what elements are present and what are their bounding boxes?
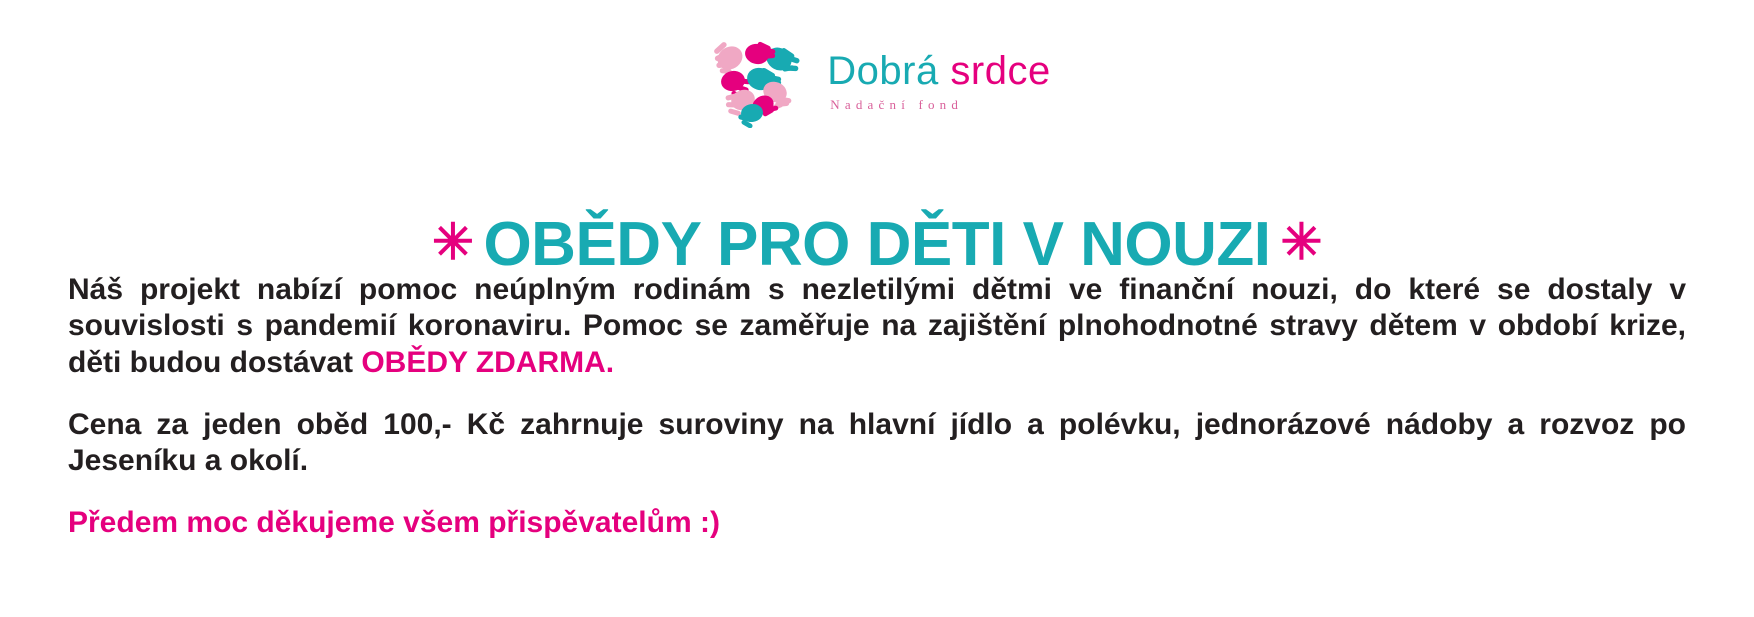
asterisk-right-icon: ✳ [1271,214,1332,270]
free-lunches-highlight: OBĚDY ZDARMA. [361,346,614,379]
logo-text: Dobrá srdce Nadační fond [827,49,1050,113]
paragraph-1-text: Náš projekt nabízí pomoc neúplným rodiná… [68,273,1686,379]
logo-block: Dobrá srdce Nadační fond [0,34,1754,128]
paragraph-project-description: Náš projekt nabízí pomoc neúplným rodiná… [68,272,1686,381]
flyer-page: Dobrá srdce Nadační fond ✳OBĚDY PRO DĚTI… [0,0,1754,617]
logo-subtitle: Nadační fond [830,97,1050,113]
paragraph-price-description: Cena za jeden oběd 100,- Kč zahrnuje sur… [68,407,1686,480]
logo: Dobrá srdce Nadační fond [703,34,1050,128]
body-copy: Náš projekt nabízí pomoc neúplným rodiná… [68,272,1686,542]
heart-of-hands-logo-icon [703,34,811,128]
page-title-text: OBĚDY PRO DĚTI V NOUZI [483,210,1270,279]
asterisk-left-icon: ✳ [422,214,483,270]
logo-wordmark: Dobrá srdce [827,51,1050,92]
page-title: ✳OBĚDY PRO DĚTI V NOUZI✳ [0,214,1754,276]
logo-word-secondary: srdce [950,49,1050,93]
logo-word-primary: Dobrá [827,49,938,93]
thank-you-line: Předem moc děkujeme všem přispěvatelům :… [68,505,1686,541]
